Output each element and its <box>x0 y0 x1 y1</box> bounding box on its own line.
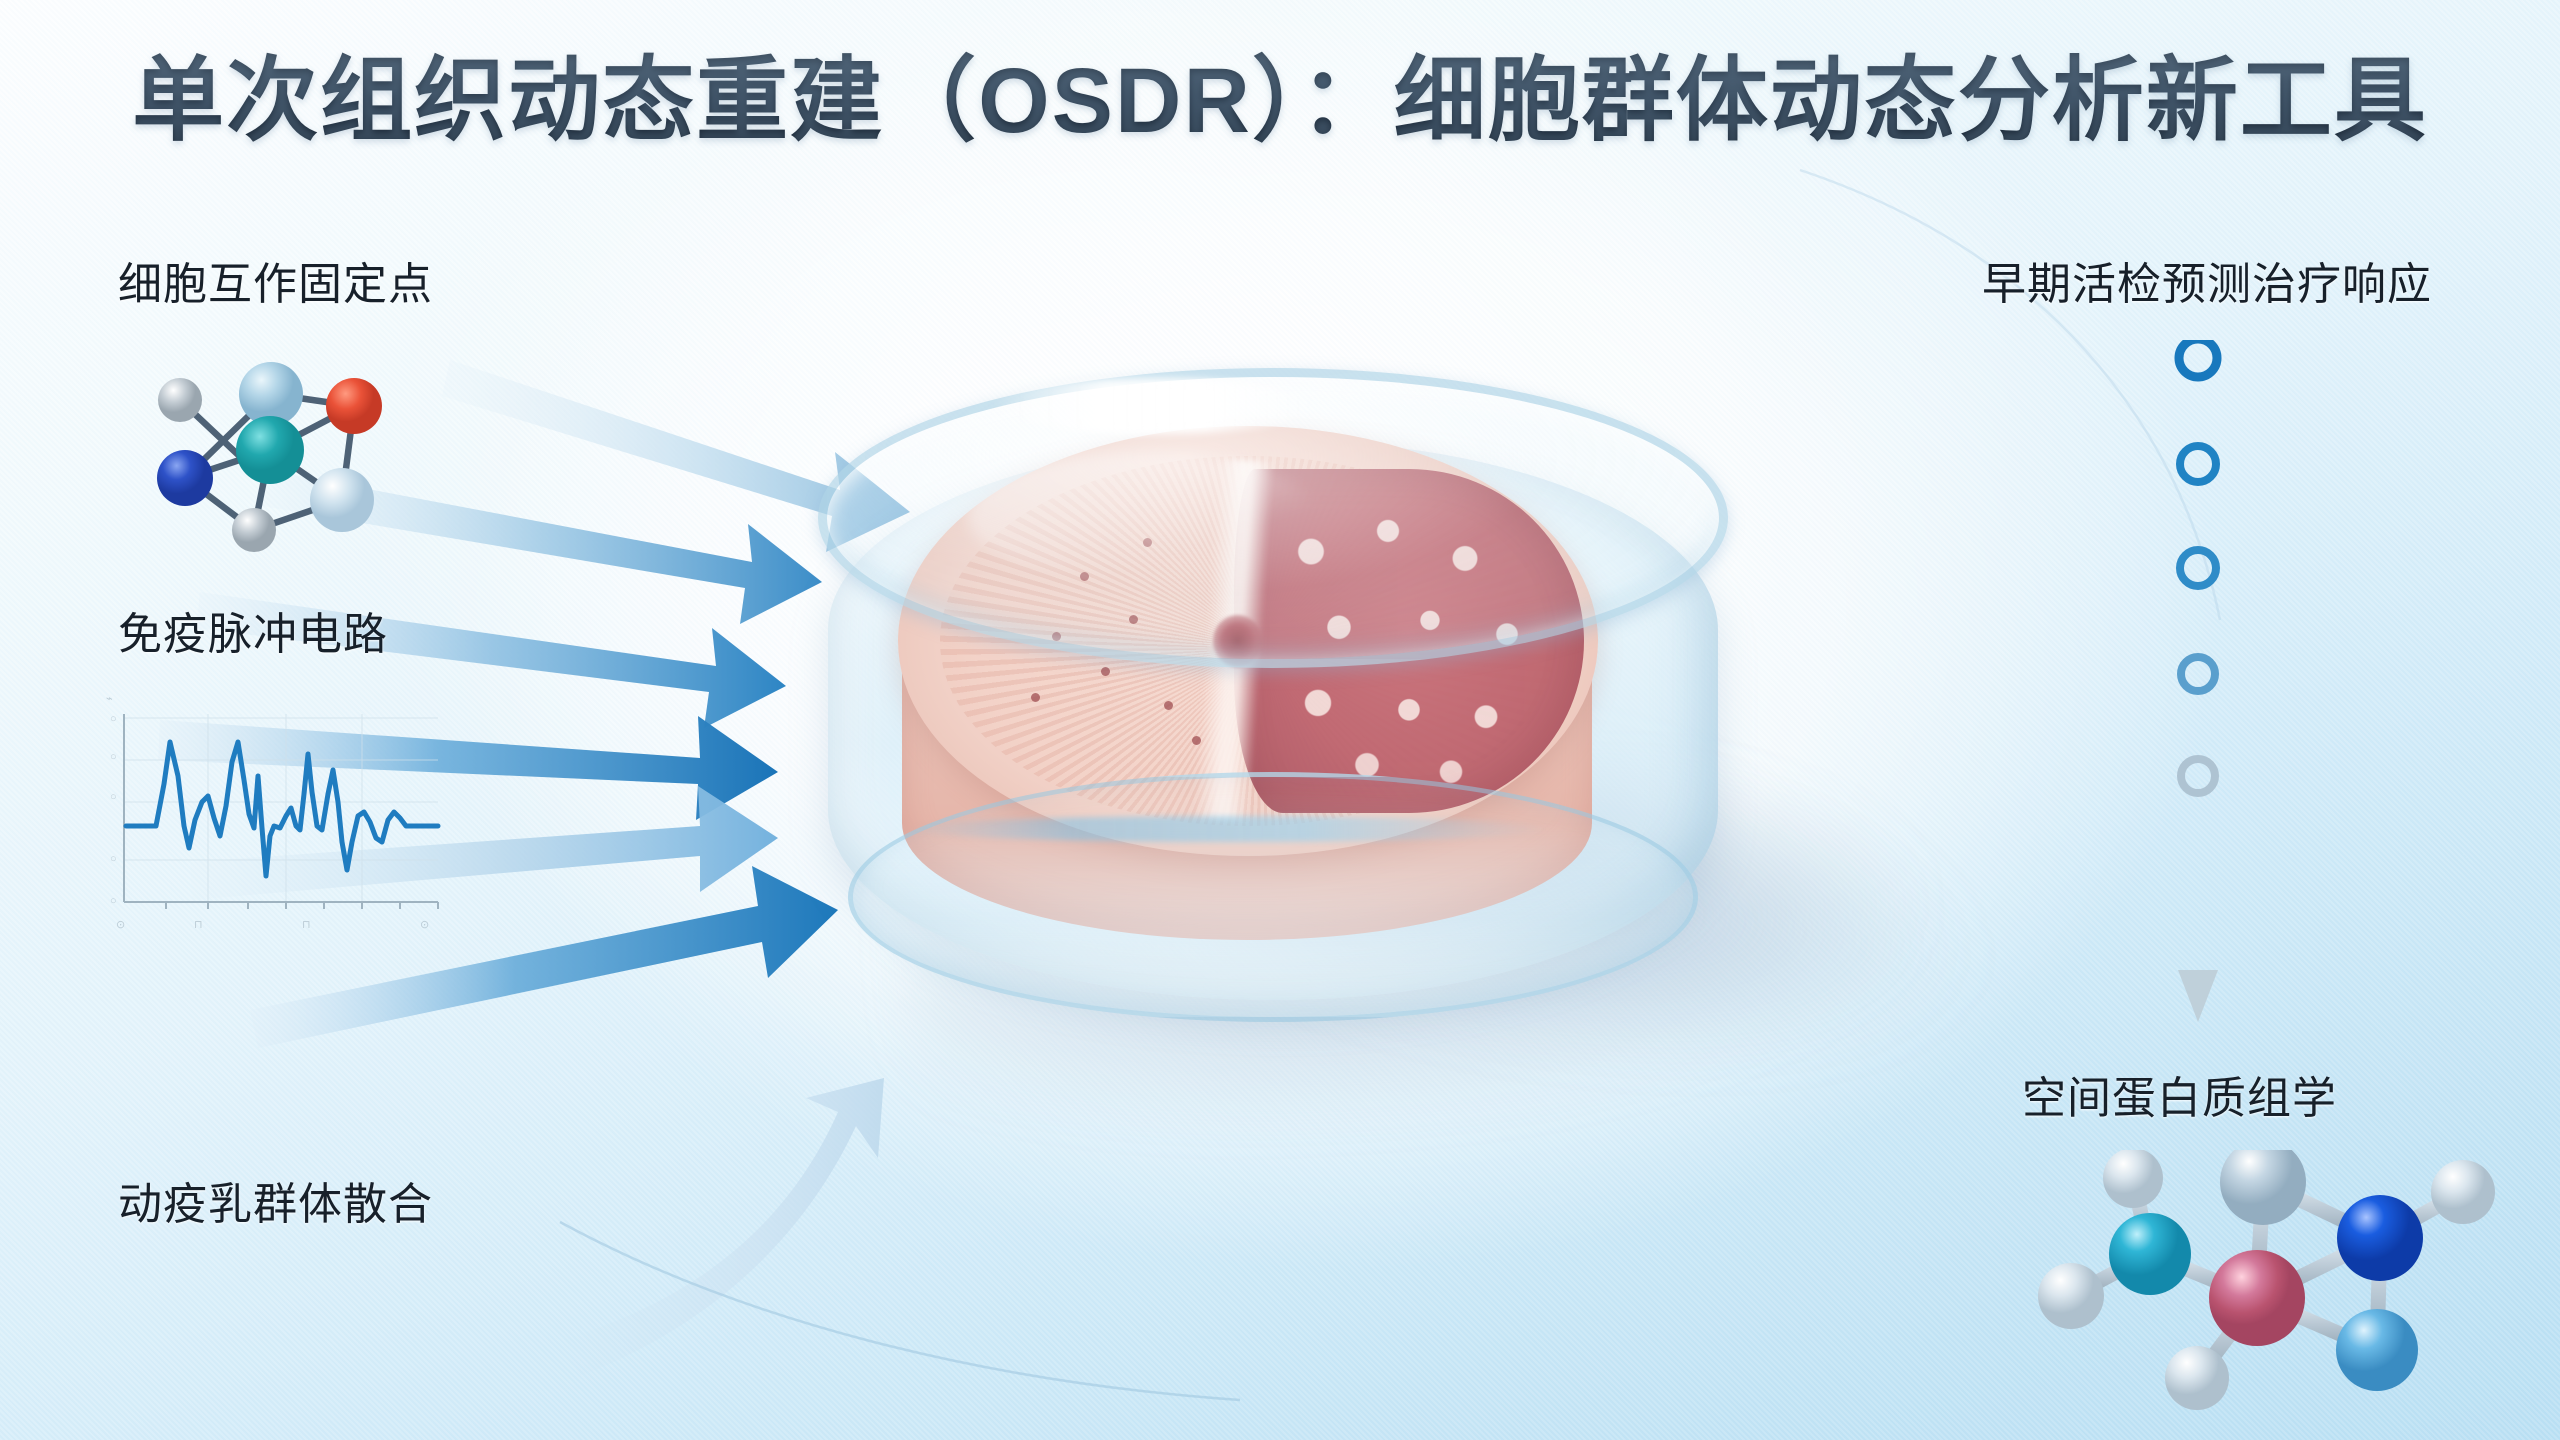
svg-text:⊙: ⊙ <box>116 919 125 931</box>
label-immune-cluster-dispersion: 动疫乳群体散合 <box>118 1168 433 1232</box>
molecule-atom-white-top-left <box>2103 1150 2163 1208</box>
label-spatial-proteomics: 空间蛋白质组学 <box>2022 1062 2337 1126</box>
waveform-line <box>126 742 438 876</box>
infographic-canvas: 单次组织动态重建（OSDR）：细胞群体动态分析新工具 <box>0 0 2560 1440</box>
tissue-speck <box>1101 667 1110 676</box>
molecule-atom-lightblue <box>2336 1309 2418 1391</box>
molecule-atom-white-right <box>2431 1160 2495 1224</box>
svg-text:⊙: ⊙ <box>420 919 429 931</box>
waveform-ticks <box>166 902 438 909</box>
page-title: 单次组织动态重建（OSDR）：细胞群体动态分析新工具 <box>0 26 2560 159</box>
network-node-center <box>236 416 304 484</box>
tissue-speck <box>1031 693 1040 702</box>
network-node-pale-right <box>310 468 374 532</box>
label-cell-interaction-anchor: 细胞互作固定点 <box>118 248 433 312</box>
svg-text:⊓: ⊓ <box>302 919 311 931</box>
petri-dish-with-tissue-section <box>790 320 1750 1200</box>
label-early-biopsy-response-prediction: 早期活检预测治疗响应 <box>1982 248 2432 312</box>
molecule-atom-blue <box>2337 1195 2423 1281</box>
svg-text:⊓: ⊓ <box>194 919 203 931</box>
molecule-ball-stick-icon <box>1985 1150 2505 1440</box>
molecule-atom-white-left <box>2038 1263 2104 1329</box>
molecule-atom-center-pink <box>2209 1250 2305 1346</box>
molecule-atom-white-bottom <box>2165 1346 2229 1410</box>
waveform-chart-icon: ⌁○○ ○○○ ⊙⊓ ⊓⊙ <box>90 690 480 952</box>
molecular-network-icon <box>128 348 396 560</box>
svg-text:○: ○ <box>110 713 117 725</box>
network-node-red <box>326 378 382 434</box>
svg-text:○: ○ <box>110 751 117 763</box>
vertical-timeline-icon <box>2160 340 2300 1040</box>
hairline-curve <box>560 1222 1240 1400</box>
svg-text:⌁: ⌁ <box>106 693 113 705</box>
network-node-upper-gray <box>158 378 202 422</box>
tissue-speck <box>1192 736 1201 745</box>
waveform-tick-label-blurred: ⌁○○ ○○○ ⊙⊓ ⊓⊙ <box>106 693 429 931</box>
molecule-atom-pale-top <box>2220 1150 2306 1225</box>
dish-bottom-highlight <box>910 816 1550 842</box>
network-node-blue <box>157 450 213 506</box>
network-node-lower-gray <box>232 508 276 552</box>
svg-text:○: ○ <box>110 895 117 907</box>
svg-text:○: ○ <box>110 791 117 803</box>
label-immune-pulse-circuit: 免疫脉冲电路 <box>118 598 388 662</box>
hairline-curve-upper <box>1800 170 2220 620</box>
dish-bottom-rim <box>848 772 1698 1022</box>
dish-rim-highlight <box>990 378 1320 434</box>
timeline-down-arrow <box>2178 970 2218 1022</box>
molecule-atom-cyan <box>2109 1213 2191 1295</box>
svg-text:○: ○ <box>110 853 117 865</box>
